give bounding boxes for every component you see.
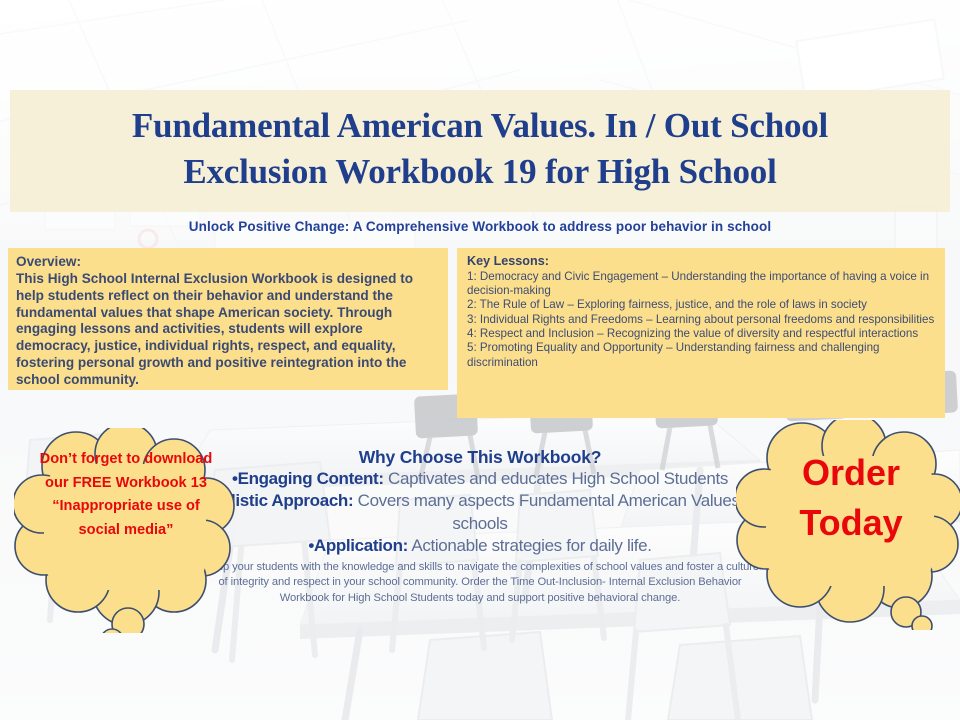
overview-panel: Overview: This High School Internal Excl… [8, 248, 448, 390]
why-choose-bullet-2-text: Covers many aspects Fundamental American… [353, 491, 756, 532]
why-choose-bullet-3: •Application: Actionable strategies for … [200, 535, 760, 557]
why-choose-bullet-1-label: •Engaging Content: [232, 469, 384, 488]
why-choose-section: Why Choose This Workbook? •Engaging Cont… [200, 447, 760, 606]
overview-heading: Overview: [16, 254, 440, 271]
page-title-line2: Exclusion Workbook 19 for High School [10, 152, 950, 192]
key-lesson-item-4: 4: Respect and Inclusion – Recognizing t… [467, 327, 935, 341]
key-lesson-item-1: 1: Democracy and Civic Engagement – Unde… [467, 270, 935, 299]
page-subtitle: Unlock Positive Change: A Comprehensive … [0, 219, 960, 234]
closing-paragraph: Equip your students with the knowledge a… [200, 560, 760, 606]
why-choose-bullet-3-text: Actionable strategies for daily life. [408, 536, 652, 555]
key-lesson-item-5: 5: Promoting Equality and Opportunity – … [467, 341, 935, 370]
why-choose-bullet-1-text: Captivates and educates High School Stud… [384, 469, 728, 488]
why-choose-bullet-1: •Engaging Content: Captivates and educat… [200, 468, 760, 490]
why-choose-heading: Why Choose This Workbook? [200, 447, 760, 468]
order-today-bubble-text: Order Today [756, 448, 946, 547]
key-lessons-heading: Key Lessons: [467, 254, 935, 270]
why-choose-bullet-2: •Holistic Approach: Covers many aspects … [200, 490, 760, 535]
key-lesson-item-3: 3: Individual Rights and Freedoms – Lear… [467, 313, 935, 327]
why-choose-bullet-3-label: •Application: [308, 536, 408, 555]
free-workbook-bubble-text: Don’t forget to download our FREE Workbo… [36, 448, 216, 543]
overview-body: This High School Internal Exclusion Work… [16, 271, 440, 389]
key-lesson-item-2: 2: The Rule of Law – Exploring fairness,… [467, 298, 935, 312]
page-title-line1: Fundamental American Values. In / Out Sc… [10, 106, 950, 146]
order-today-thought-bubble[interactable]: Order Today [736, 420, 960, 630]
slide-canvas: Fundamental American Values. In / Out Sc… [0, 0, 960, 720]
key-lessons-panel: Key Lessons: 1: Democracy and Civic Enga… [457, 248, 945, 418]
free-workbook-thought-bubble[interactable]: Don’t forget to download our FREE Workbo… [14, 428, 236, 633]
title-banner: Fundamental American Values. In / Out Sc… [10, 90, 950, 212]
